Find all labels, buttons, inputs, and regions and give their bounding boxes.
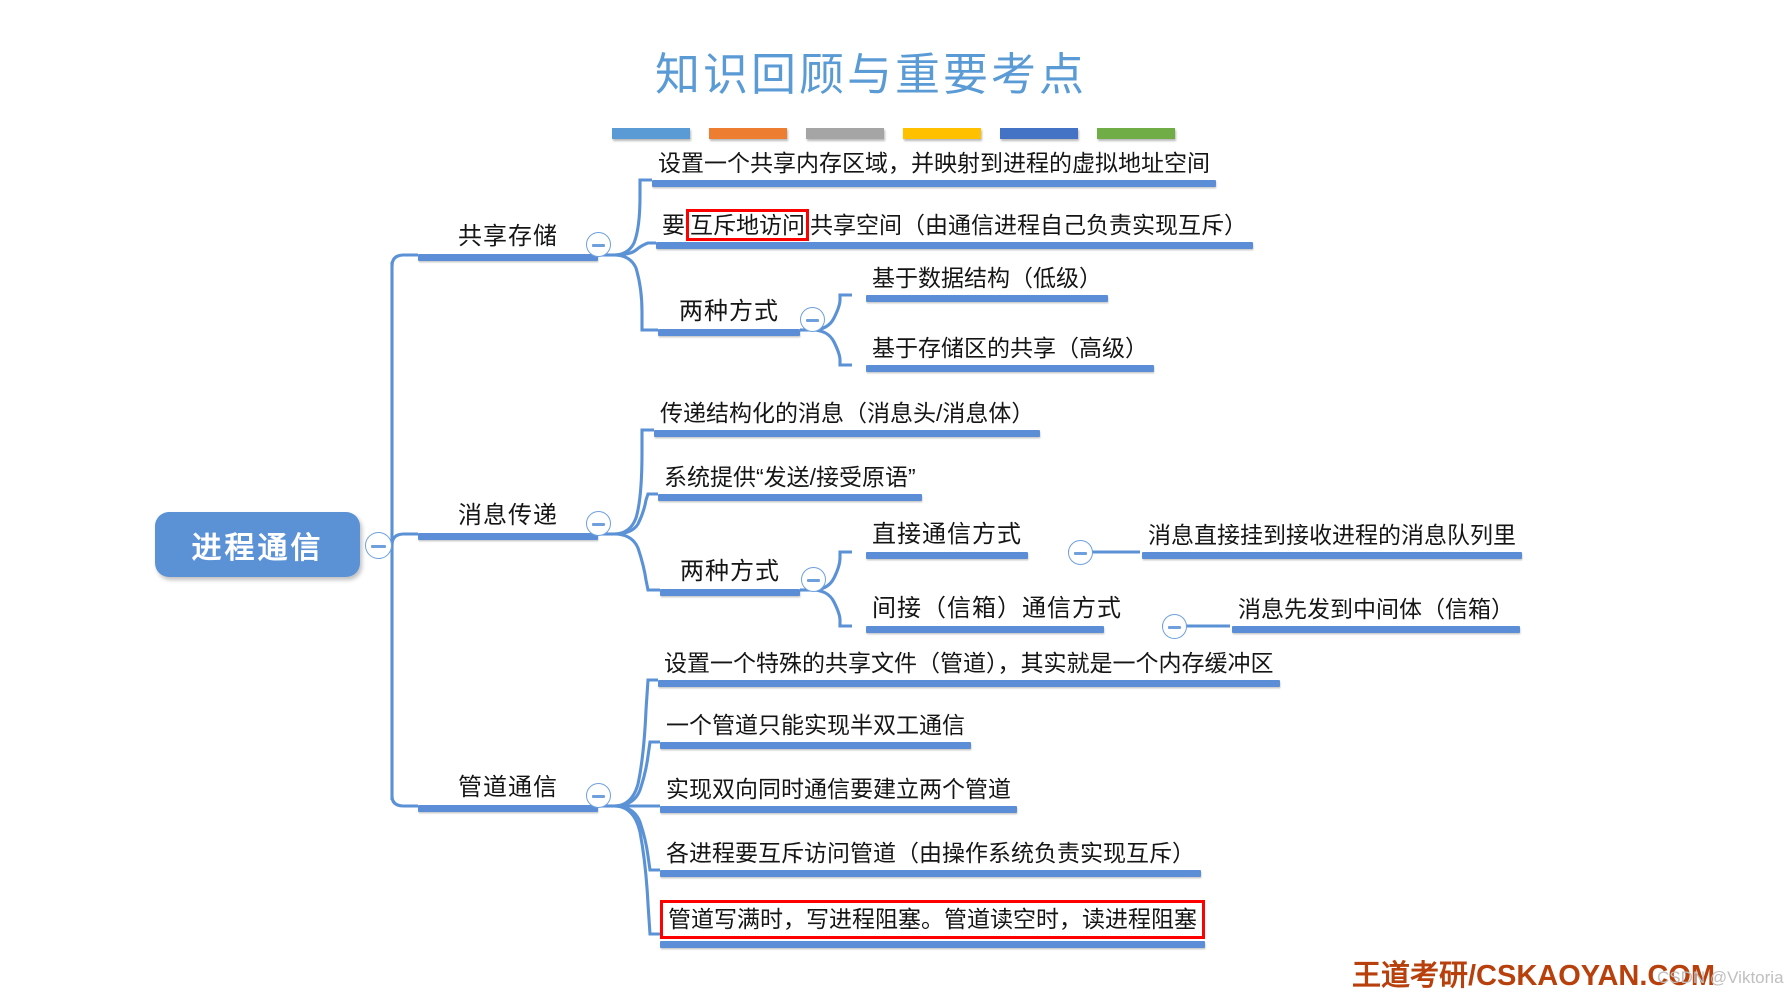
- branch-node-two-ways-shared[interactable]: 两种方式: [658, 297, 800, 336]
- leaf-label: 消息先发到中间体（信箱）: [1232, 594, 1520, 626]
- chip-blue: [612, 128, 690, 139]
- branch-node-pipe-communication[interactable]: 管道通信: [418, 773, 598, 812]
- leaf-shared-memory-region[interactable]: 设置一个共享内存区域，并映射到进程的虚拟地址空间: [652, 148, 1216, 187]
- node-underline: [652, 180, 1216, 187]
- node-underline: [658, 494, 922, 501]
- node-underline: [660, 589, 800, 596]
- collapse-minus-icon-two-ways-shared[interactable]: [800, 307, 825, 332]
- color-chip-row: [612, 128, 1175, 139]
- leaf-label: 基于存储区的共享（高级）: [866, 333, 1154, 365]
- node-underline: [418, 533, 598, 540]
- collapse-minus-icon-message-passing[interactable]: [586, 511, 611, 536]
- node-underline: [660, 870, 1201, 877]
- chip-yellow: [903, 128, 981, 139]
- node-underline: [660, 806, 1017, 813]
- leaf-structured-message[interactable]: 传递结构化的消息（消息头/消息体）: [654, 398, 1040, 437]
- leaf-label: 传递结构化的消息（消息头/消息体）: [654, 398, 1040, 430]
- leaf-mailbox-intermediary[interactable]: 消息先发到中间体（信箱）: [1232, 594, 1520, 633]
- leaf-label: 基于数据结构（低级）: [866, 263, 1108, 295]
- leaf-pipe-mutual-exclusion-os[interactable]: 各进程要互斥访问管道（由操作系统负责实现互斥）: [660, 838, 1201, 877]
- node-underline: [654, 430, 1040, 437]
- leaf-text-after: 共享空间（由通信进程自己负责实现互斥）: [810, 212, 1247, 238]
- branch-label-two-ways: 两种方式: [658, 297, 800, 329]
- page-title: 知识回顾与重要考点: [655, 38, 1087, 103]
- chip-darkblue: [1000, 128, 1078, 139]
- node-underline: [866, 626, 1104, 633]
- leaf-mutual-exclusion-access[interactable]: 要互斥地访问共享空间（由通信进程自己负责实现互斥）: [656, 210, 1253, 249]
- leaf-label: 管道写满时，写进程阻塞。管道读空时，读进程阻塞: [660, 900, 1205, 939]
- leaf-pipe-two-pipes-duplex[interactable]: 实现双向同时通信要建立两个管道: [660, 774, 1017, 813]
- leaf-label: 实现双向同时通信要建立两个管道: [660, 774, 1017, 806]
- leaf-pipe-special-shared-file[interactable]: 设置一个特殊的共享文件（管道），其实就是一个内存缓冲区: [658, 648, 1280, 687]
- branch-label-indirect-communication: 间接（信箱）通信方式: [866, 594, 1104, 626]
- leaf-label: 各进程要互斥访问管道（由操作系统负责实现互斥）: [660, 838, 1201, 870]
- csdn-watermark: CSDN @Viktoriae: [1657, 968, 1784, 988]
- branch-node-message-passing[interactable]: 消息传递: [418, 501, 598, 540]
- leaf-label: 消息直接挂到接收进程的消息队列里: [1142, 520, 1522, 552]
- leaf-data-structure-based[interactable]: 基于数据结构（低级）: [866, 263, 1108, 302]
- leaf-label: 设置一个共享内存区域，并映射到进程的虚拟地址空间: [652, 148, 1216, 180]
- node-underline: [418, 805, 598, 812]
- node-underline: [660, 742, 971, 749]
- leaf-pipe-half-duplex[interactable]: 一个管道只能实现半双工通信: [660, 710, 971, 749]
- leaf-send-receive-primitives[interactable]: 系统提供“发送/接受原语”: [658, 462, 922, 501]
- node-underline: [866, 365, 1154, 372]
- branch-node-two-ways-message[interactable]: 两种方式: [660, 557, 800, 596]
- collapse-minus-icon-root[interactable]: [365, 532, 392, 559]
- branch-node-direct-communication[interactable]: 直接通信方式: [866, 520, 1028, 559]
- leaf-text-before: 要: [662, 212, 685, 238]
- leaf-direct-queue-attach[interactable]: 消息直接挂到接收进程的消息队列里: [1142, 520, 1522, 559]
- node-underline: [866, 552, 1028, 559]
- leaf-storage-area-sharing[interactable]: 基于存储区的共享（高级）: [866, 333, 1154, 372]
- branch-node-shared-storage[interactable]: 共享存储: [418, 222, 598, 261]
- node-underline: [1232, 626, 1520, 633]
- node-underline: [658, 329, 800, 336]
- leaf-label: 要互斥地访问共享空间（由通信进程自己负责实现互斥）: [656, 210, 1253, 242]
- node-underline: [658, 680, 1280, 687]
- node-underline: [660, 941, 1205, 948]
- red-highlight-box: 互斥地访问: [686, 209, 809, 241]
- node-underline: [418, 254, 598, 261]
- collapse-minus-icon-indirect-communication[interactable]: [1162, 614, 1187, 639]
- root-node[interactable]: 进程通信: [155, 512, 360, 577]
- collapse-minus-icon-pipe-communication[interactable]: [586, 783, 611, 808]
- leaf-label: 一个管道只能实现半双工通信: [660, 710, 971, 742]
- node-underline: [656, 242, 1253, 249]
- node-underline: [866, 295, 1108, 302]
- branch-node-indirect-communication[interactable]: 间接（信箱）通信方式: [866, 594, 1104, 633]
- chip-gray: [806, 128, 884, 139]
- branch-label-pipe-communication: 管道通信: [418, 773, 598, 805]
- chip-orange: [709, 128, 787, 139]
- node-underline: [1142, 552, 1522, 559]
- leaf-label: 系统提供“发送/接受原语”: [658, 462, 922, 494]
- branch-label-shared-storage: 共享存储: [418, 222, 598, 254]
- collapse-minus-icon-two-ways-message[interactable]: [801, 567, 826, 592]
- collapse-minus-icon-direct-communication[interactable]: [1068, 540, 1093, 565]
- leaf-label: 设置一个特殊的共享文件（管道），其实就是一个内存缓冲区: [658, 648, 1280, 680]
- collapse-minus-icon-shared-storage[interactable]: [586, 232, 611, 257]
- root-node-label: 进程通信: [192, 523, 324, 567]
- chip-green: [1097, 128, 1175, 139]
- branch-label-two-ways: 两种方式: [660, 557, 800, 589]
- branch-label-direct-communication: 直接通信方式: [866, 520, 1028, 552]
- leaf-pipe-blocking-rules[interactable]: 管道写满时，写进程阻塞。管道读空时，读进程阻塞: [660, 900, 1205, 948]
- branch-label-message-passing: 消息传递: [418, 501, 598, 533]
